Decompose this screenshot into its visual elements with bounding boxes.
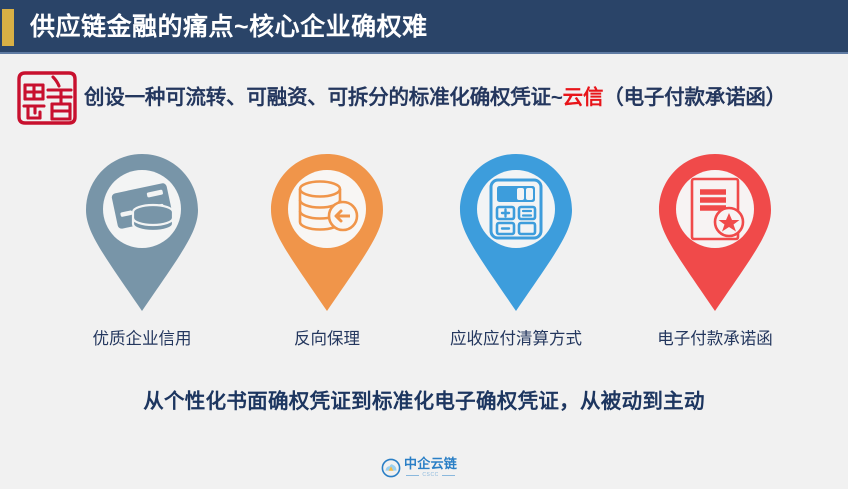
pin-item-reverse-factoring[interactable] [262,150,392,315]
subtitle-row: 创设一种可流转、可融资、可拆分的标准化确权凭证~云信（电子付款承诺函） [0,66,848,132]
brand-text: 中企云链 CSCC [404,457,457,478]
pin-item-settlement-method[interactable] [451,150,581,315]
subtitle-part-1: 创设一种可流转、可融资、可拆分的标准化确权凭证~ [84,86,563,109]
pin-label-settlement-method: 应收应付清算方式 [436,325,596,353]
brand-logo: 中企云链 CSCC [381,454,467,481]
brand-rule-left [406,475,419,476]
brand-sub-row: CSCC [406,472,455,478]
pin-labels: 优质企业信用 反向保理 应收应付清算方式 电子付款承诺函 [0,325,848,353]
pin-label-reverse-factoring: 反向保理 [247,325,407,353]
subtitle-text: 创设一种可流转、可融资、可拆分的标准化确权凭证~云信（电子付款承诺函） [84,66,786,130]
brand-rule-right [442,475,455,476]
pin-label-epayment-letter: 电子付款承诺函 [635,325,795,353]
pin-group [0,150,848,315]
slide-header: 供应链金融的痛点~核心企业确权难 [0,0,848,54]
pin-label-excellent-credit: 优质企业信用 [62,325,222,353]
subtitle-highlight: 云信 [563,86,604,109]
header-accent-bar [2,9,14,46]
pin-inner-circle [477,170,555,248]
brand-subtitle: CSCC [422,472,439,478]
yunxin-seal-icon [13,68,81,128]
subtitle-part-2: （电子付款承诺函） [603,86,786,109]
page-title: 供应链金融的痛点~核心企业确权难 [30,9,428,46]
cscc-cloud-icon [381,458,401,478]
summary-statement: 从个性化书面确权凭证到标准化电子确权凭证，从被动到主动 [0,386,848,418]
pin-item-excellent-credit[interactable] [77,150,207,315]
brand-name: 中企云链 [404,457,457,471]
pin-item-epayment-letter[interactable] [650,150,780,315]
